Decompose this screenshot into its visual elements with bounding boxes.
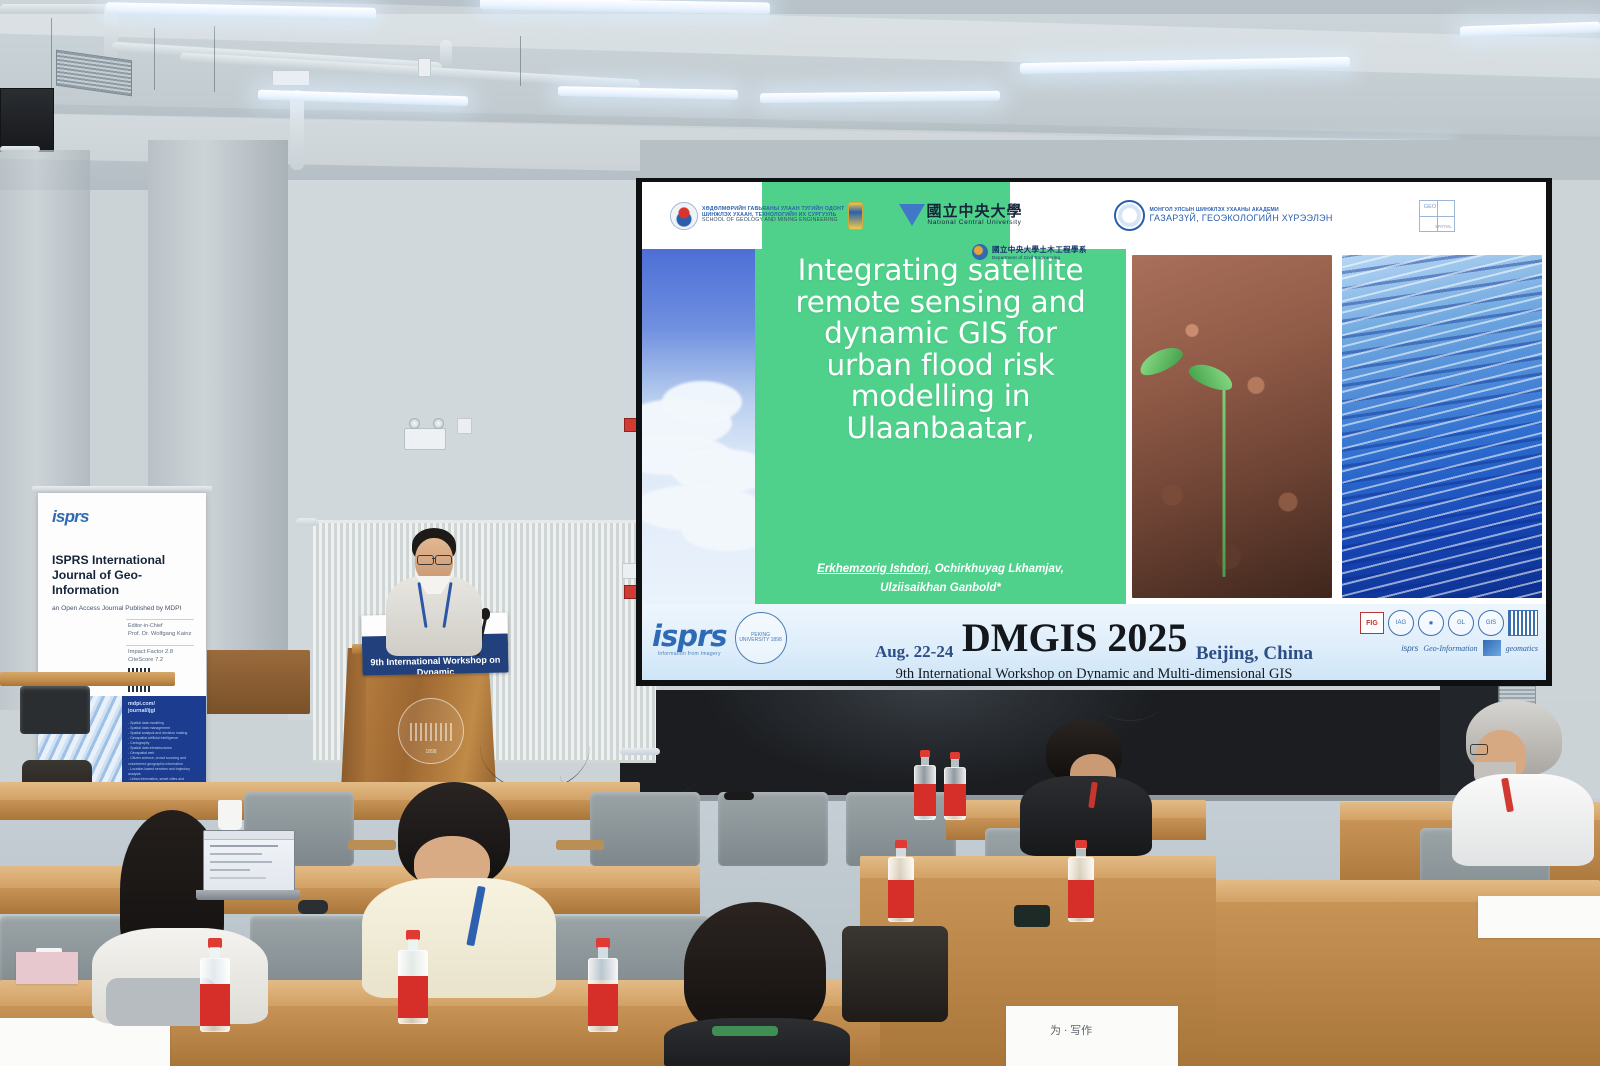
rollup-journal-title: ISPRS InternationalJournal of Geo-Inform… <box>52 553 192 598</box>
chair-armrest <box>556 840 604 850</box>
logo-ncu-civil-engineering: 國立中央大學土木工程學系 Department of Civil Enginee… <box>972 244 1087 260</box>
notebook <box>16 952 78 984</box>
author-presenting: Erkhemzorig Ishdorj <box>817 563 928 575</box>
speaker-glasses-icon <box>417 555 434 565</box>
geomatics-icon <box>1483 640 1501 656</box>
logo-geo-spatial: GEO SPATIAL <box>1419 200 1455 232</box>
geo-information-journal-logo: Geo-Information <box>1423 644 1477 653</box>
ceiling-pipe <box>0 4 120 13</box>
laptop-mouse[interactable] <box>298 900 328 914</box>
author-others: , Ochirkhuyag Lkhamjav, <box>928 563 1064 575</box>
rollup-impact-factor: Impact Factor 2.8 <box>128 649 173 657</box>
person-attendee-front-row <box>660 902 870 1066</box>
event-city: Beijing, China <box>1196 643 1313 665</box>
slide-title-line-6: Ulaanbaatar, <box>769 413 1112 445</box>
attendee-torso <box>362 878 556 998</box>
slide-title-block: Integrating satelliteremote sensing andd… <box>755 249 1126 604</box>
speaker-glasses-icon <box>435 555 452 565</box>
ncu-civil-emblem-icon <box>972 244 988 260</box>
iag-logo-icon: IAG <box>1388 610 1414 636</box>
geomatics-logo: geomatics <box>1506 644 1538 653</box>
slide-title-line-2: remote sensing and <box>769 287 1112 319</box>
slide-logo-band: ХӨДӨЛМӨРИЙН ГАВЬЯАНЫ УЛААН ТУГИЙН ОДОНТ … <box>642 182 1546 249</box>
emergency-light-head <box>433 418 444 429</box>
attendee-lanyard <box>712 1026 778 1036</box>
chair <box>590 792 700 866</box>
radiator-pipe <box>296 518 318 526</box>
side-chair <box>20 686 90 734</box>
rollup-editor-label: Editor-in-Chief <box>128 623 162 630</box>
rollup-topic-item: - Citizen science, crowd sourcing and vo… <box>128 756 202 766</box>
water-bottle[interactable] <box>1068 840 1094 920</box>
ica-logo-icon <box>1508 610 1538 636</box>
slide-title: Integrating satelliteremote sensing andd… <box>755 255 1126 444</box>
slide-title-line-3: dynamic GIS for <box>769 318 1112 350</box>
floor-cable <box>1100 690 1160 721</box>
logo-national-central-university: 國立中央大學 National Central University <box>899 204 1022 227</box>
rollup-isprs-wordmark: isprs <box>52 507 89 527</box>
rollup-url-line-1: mdpi.com/ <box>128 701 155 708</box>
hanging-wire <box>51 18 52 90</box>
fig-logo-icon: FIG <box>1360 612 1384 634</box>
microphone-head <box>481 608 490 620</box>
slide-authors: Erkhemzorig Ishdorj, Ochirkhuyag Lkhamja… <box>755 560 1126 598</box>
rollup-title-line-3: Information <box>52 583 192 598</box>
slide-photo-sky <box>642 249 755 604</box>
water-bottle[interactable] <box>944 752 966 818</box>
mas-line2: ГАЗАРЗҮЙ, ГЕОЭКОЛОГИЙН ХҮРЭЭЛЭН <box>1149 214 1332 223</box>
attendee-hair <box>684 902 826 1034</box>
hanging-wire <box>154 28 155 90</box>
ncu-civil-english: Department of Civil Engineering <box>992 255 1087 260</box>
water-bottle[interactable] <box>914 750 936 818</box>
water-bottle[interactable] <box>398 930 428 1022</box>
ceiling-sensor <box>418 58 431 77</box>
person-speaker <box>386 528 482 653</box>
wall-switch-plate[interactable] <box>457 418 472 434</box>
geo-spatial-icon: GEO SPATIAL <box>1419 200 1455 232</box>
emergency-light-head <box>409 418 420 429</box>
rollup-url-line-2: journal/ijgi <box>128 708 155 715</box>
slide-title-line-5: modelling in <box>769 381 1112 413</box>
projection-screen: ХӨДӨЛМӨРИЙН ГАВЬЯАНЫ УЛААН ТУГИЙН ОДОНТ … <box>642 182 1546 680</box>
rollup-citescore: CiteScore 7.2 <box>128 657 163 665</box>
water-bottle[interactable] <box>588 938 618 1030</box>
ncu-triangle-icon <box>899 204 925 226</box>
slide-photo-group <box>1126 249 1546 604</box>
logo-line3: SCHOOL OF GEOLOGY AND MINING ENGINEERING <box>702 218 844 223</box>
ncu-civil-chinese: 國立中央大學土木工程學系 <box>992 244 1087 255</box>
water-bottle[interactable] <box>200 938 230 1030</box>
event-subtitle: 9th International Workshop on Dynamic an… <box>642 666 1546 680</box>
wall-sign <box>622 563 637 579</box>
podium-university-emblem-icon: 1898 <box>398 698 464 764</box>
smartphone[interactable] <box>1014 905 1050 927</box>
laptop-base[interactable] <box>196 890 300 900</box>
ncu-chinese-name: 國立中央大學 <box>926 204 1022 220</box>
ceiling-pipe <box>290 90 304 170</box>
handwriting-mark: 为 · 写作 <box>1050 1022 1092 1038</box>
presentation-slide: ХӨДӨЛМӨРИЙН ГАВЬЯАНЫ УЛААН ТУГИЙН ОДОНТ … <box>642 182 1546 680</box>
slide-body: Integrating satelliteremote sensing andd… <box>642 249 1546 604</box>
rollup-banner-top-bar <box>32 486 212 493</box>
globe-logo-icon: ✸ <box>1418 610 1444 636</box>
ceiling-junction-box <box>272 70 310 86</box>
rollup-journal-subtitle: an Open Access Journal Published by MDPI <box>52 605 200 612</box>
ceiling-pipe <box>440 40 452 66</box>
slide-photo-seedling <box>1132 255 1332 598</box>
slide-title-line-4: urban flood risk <box>769 350 1112 382</box>
slide-photo-water <box>1342 255 1542 598</box>
attendee-torso <box>1452 774 1594 866</box>
person-attendee-right-gray <box>1446 700 1596 842</box>
author-corresponding: Ulziisaikhan Ganbold* <box>755 579 1126 598</box>
emergency-exit-light <box>404 428 446 450</box>
table-microphone <box>724 792 754 800</box>
chair <box>718 792 828 866</box>
rollup-title-line-2: Journal of Geo- <box>52 568 192 583</box>
paper-cup[interactable] <box>218 800 242 830</box>
event-date: Aug. 22-24 <box>875 642 953 662</box>
rollup-title-line-1: ISPRS International <box>52 553 192 568</box>
ceiling-speaker <box>0 88 54 152</box>
rollup-topic-item: - Location-based services and trajectory… <box>128 767 202 777</box>
podium-sign-subtitle-1: 9th International Workshop on Dynamic <box>364 655 506 676</box>
mas-emblem-icon <box>1114 200 1145 231</box>
footer-sponsor-logos: FIG IAG ✸ GL GIS isprs Geo-Information g… <box>1338 610 1538 656</box>
water-bottle[interactable] <box>888 840 914 920</box>
rollup-editor-name: Prof. Dr. Wolfgang Kainz <box>128 631 191 639</box>
attendee-glasses-icon <box>1470 744 1488 755</box>
geo-label: GEO <box>1424 204 1436 210</box>
logo-mongolian-academy-of-sciences: МОНГОЛ УЛСЫН ШИНЖЛЭХ УХААНЫ АКАДЕМИ ГАЗА… <box>1114 200 1332 231</box>
gis-logo-icon: GIS <box>1478 610 1504 636</box>
paper-sheet <box>1478 896 1600 938</box>
hanging-wire <box>520 36 521 86</box>
person-attendee-front-center <box>356 782 556 992</box>
glac-logo-icon: GL <box>1448 610 1474 636</box>
spatial-label: SPATIAL <box>1435 224 1452 229</box>
isprs-small-logo: isprs <box>1401 644 1418 653</box>
side-table <box>0 672 175 686</box>
speaker-glasses-bridge <box>432 558 436 559</box>
podium-emblem-year: 1898 <box>399 749 463 755</box>
ncu-english-name: National Central University <box>926 220 1022 227</box>
must-shield-icon <box>848 202 863 230</box>
person-attendee-right-dark <box>1016 720 1156 850</box>
slide-footer-banner: isprs Information from Imagery PEKING UN… <box>642 604 1546 680</box>
logo-must-geology-mining: ХӨДӨЛМӨРИЙН ГАВЬЯАНЫ УЛААН ТУГИЙН ОДОНТ … <box>670 202 863 230</box>
hanging-wire <box>214 26 215 92</box>
event-name: DMGIS 2025 <box>962 618 1188 658</box>
laptop-screen[interactable] <box>203 830 295 894</box>
handbag <box>842 926 948 1022</box>
rollup-url: mdpi.com/journal/ijgi <box>128 701 155 715</box>
screenshot-root: ХӨДӨЛМӨРИЙН ГАВЬЯАНЫ УЛААН ТУГИЙН ОДОНТ … <box>0 0 1600 1066</box>
must-emblem-icon <box>670 202 698 230</box>
